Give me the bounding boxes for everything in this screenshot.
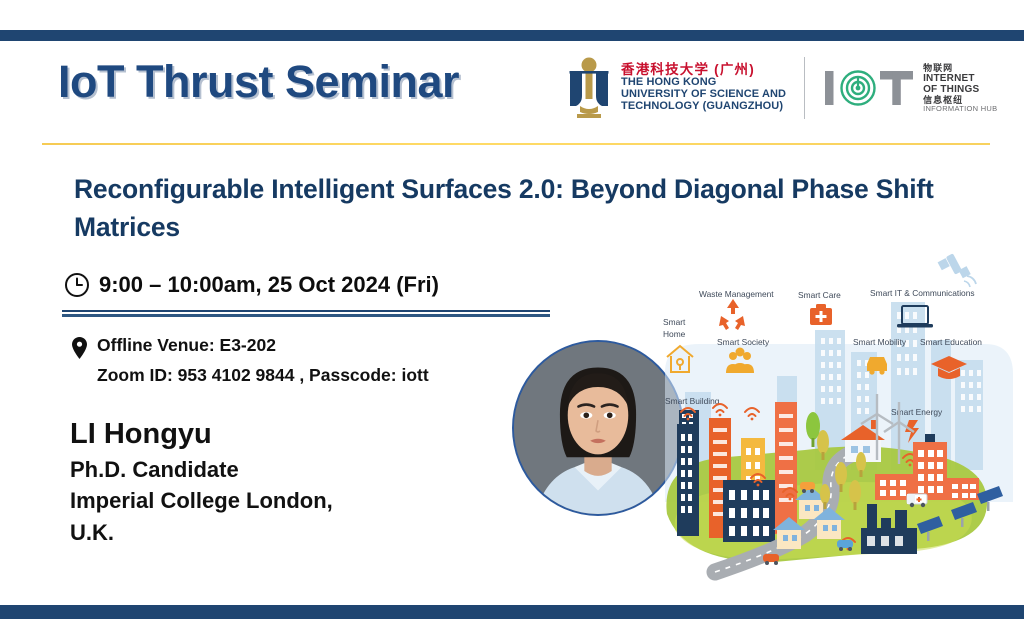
low-building-right-2 — [947, 478, 979, 500]
poster-header: IoT Thrust Seminar 香港科技大学 (广州) THE HONG … — [0, 48, 1024, 140]
label-smart-mobility: Smart Mobility — [853, 337, 907, 347]
zoom-info: Zoom ID: 953 4102 9844 , Passcode: iott — [97, 365, 429, 386]
label-smart-home-line2: Home — [663, 329, 686, 339]
smart-city-illustration: .lbl { font-family: "Liberation Sans", s… — [655, 252, 1024, 602]
speaker-role: Ph.D. Candidate — [70, 454, 333, 485]
speaker-block: LI Hongyu Ph.D. Candidate Imperial Colle… — [70, 415, 333, 548]
gold-divider — [42, 143, 990, 145]
iot-english-line-1: INTERNET — [923, 73, 997, 84]
label-smart-building: Smart Building — [665, 396, 720, 406]
location-pin-icon — [72, 337, 87, 359]
time-row: 9:00 – 10:00am, 25 Oct 2024 (Fri) — [64, 272, 439, 298]
recycle-icon — [719, 299, 745, 330]
speaker-country: U.K. — [70, 517, 333, 548]
smart-city-graphic: .lbl { font-family: "Liberation Sans", s… — [655, 252, 1024, 602]
hkust-logo-text: 香港科技大学 (广州) THE HONG KONG UNIVERSITY OF … — [621, 63, 786, 113]
seminar-time: 9:00 – 10:00am, 25 Oct 2024 (Fri) — [99, 272, 439, 298]
speaker-name: LI Hongyu — [70, 415, 333, 454]
clock-icon — [64, 272, 90, 298]
talk-title: Reconfigurable Intelligent Surfaces 2.0:… — [74, 170, 934, 247]
label-waste-management: Waste Management — [699, 289, 774, 299]
building-navy-2 — [723, 480, 775, 542]
venue-block: Offline Venue: E3-202 Zoom ID: 953 4102 … — [72, 335, 429, 386]
section-double-rule — [62, 310, 550, 317]
label-smart-education: Smart Education — [920, 337, 982, 347]
label-smart-care: Smart Care — [798, 290, 841, 300]
bottom-navy-bar — [0, 605, 1024, 619]
speaker-affiliation: Imperial College London, — [70, 485, 333, 516]
hospital-building — [913, 434, 947, 500]
iot-wordmark-icon — [823, 67, 915, 109]
iot-hub-logo: 物联网 INTERNET OF THINGS 信息枢纽 INFORMATION … — [823, 63, 997, 114]
venue-text: Offline Venue: E3-202 — [97, 335, 276, 356]
iot-english-sub: INFORMATION HUB — [923, 105, 997, 113]
hkust-logo: 香港科技大学 (广州) THE HONG KONG UNIVERSITY OF … — [566, 56, 786, 120]
iot-english-line-2: OF THINGS — [923, 84, 997, 95]
hkust-chinese-name: 香港科技大学 (广州) — [621, 63, 786, 78]
label-smart-it: Smart IT & Communications — [870, 288, 975, 298]
venue-line: Offline Venue: E3-202 — [72, 335, 429, 359]
car-orange-road-2 — [763, 554, 779, 565]
seminar-title: IoT Thrust Seminar — [58, 56, 459, 108]
label-smart-society: Smart Society — [717, 337, 770, 347]
seminar-poster: IoT Thrust Seminar 香港科技大学 (广州) THE HONG … — [0, 0, 1024, 639]
iot-chinese-name: 物联网 — [923, 63, 997, 73]
iot-logo-text: 物联网 INTERNET OF THINGS 信息枢纽 INFORMATION … — [923, 63, 997, 114]
top-navy-bar — [0, 30, 1024, 41]
tower-orange-2 — [775, 402, 797, 534]
satellite-icon — [938, 253, 976, 287]
hkust-emblem-icon — [566, 56, 612, 120]
medical-kit-icon — [810, 304, 832, 325]
logo-group: 香港科技大学 (广州) THE HONG KONG UNIVERSITY OF … — [566, 56, 997, 120]
label-smart-home-line1: Smart — [663, 317, 686, 327]
tower-navy-1 — [677, 424, 699, 536]
logo-divider — [804, 57, 805, 119]
hkust-english-line-3: TECHNOLOGY (GUANGZHOU) — [621, 101, 786, 113]
